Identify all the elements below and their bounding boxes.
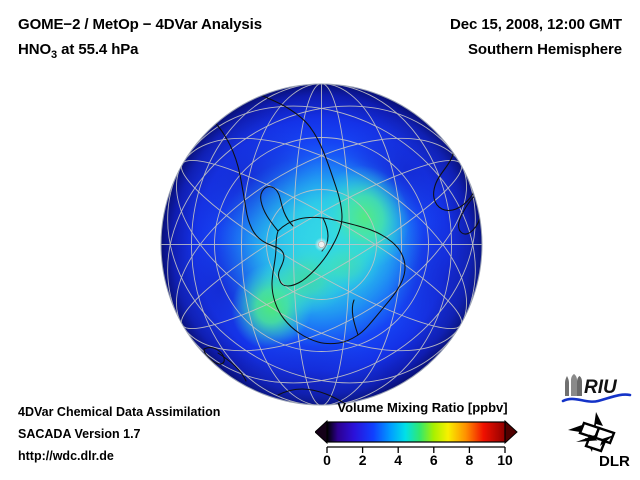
colorbar-svg: 0 2 4 6 8 10 — [315, 419, 530, 467]
analysis-title: GOME−2 / MetOp − 4DVar Analysis — [18, 12, 262, 37]
dlr-emblem-icon — [568, 412, 614, 452]
header-left-block: GOME−2 / MetOp − 4DVar Analysis HNO3 at … — [18, 12, 262, 62]
dlr-logo: DLR — [566, 412, 632, 470]
method-label: 4DVar Chemical Data Assimilation — [18, 401, 220, 423]
footer-credits: 4DVar Chemical Data Assimilation SACADA … — [18, 401, 220, 467]
species-level-line: HNO3 at 55.4 hPa — [18, 37, 262, 62]
south-pole-marker — [318, 241, 324, 247]
colorbar-tick-1: 2 — [359, 452, 367, 467]
colorbar-tick-3: 6 — [430, 452, 438, 467]
version-label: SACADA Version 1.7 — [18, 423, 220, 445]
colorbar-axis — [327, 447, 505, 453]
riu-towers-icon — [565, 374, 582, 396]
colorbar-tick-0: 0 — [323, 452, 331, 467]
riu-wordmark: RIU — [584, 377, 618, 398]
colorbar-tick-4: 8 — [466, 452, 474, 467]
pressure-level: at 55.4 hPa — [57, 41, 138, 58]
colorbar-under-arrow — [315, 421, 327, 443]
colorbar-tick-5: 10 — [497, 452, 513, 467]
date-time-label: Dec 15, 2008, 12:00 GMT — [450, 12, 622, 37]
header-right-block: Dec 15, 2008, 12:00 GMT Southern Hemisph… — [450, 12, 622, 62]
region-label: Southern Hemisphere — [450, 37, 622, 62]
coastline-south-america-west — [173, 99, 187, 143]
colorbar-over-arrow — [505, 421, 517, 443]
riu-logo: RIU — [560, 374, 632, 406]
globe-map — [160, 83, 483, 406]
colorbar-title: Volume Mixing Ratio [ppbv] — [315, 400, 530, 415]
colorbar: Volume Mixing Ratio [ppbv] — [315, 400, 530, 467]
url-label[interactable]: http://wdc.dlr.de — [18, 445, 220, 467]
orthographic-projection-svg — [160, 83, 483, 406]
dlr-wordmark: DLR — [599, 453, 630, 470]
colorbar-gradient — [327, 422, 505, 442]
colorbar-tick-labels: 0 2 4 6 8 10 — [323, 452, 513, 467]
globe-data-field — [160, 83, 483, 406]
colorbar-tick-2: 4 — [394, 452, 402, 467]
species-name: HNO — [18, 41, 51, 58]
